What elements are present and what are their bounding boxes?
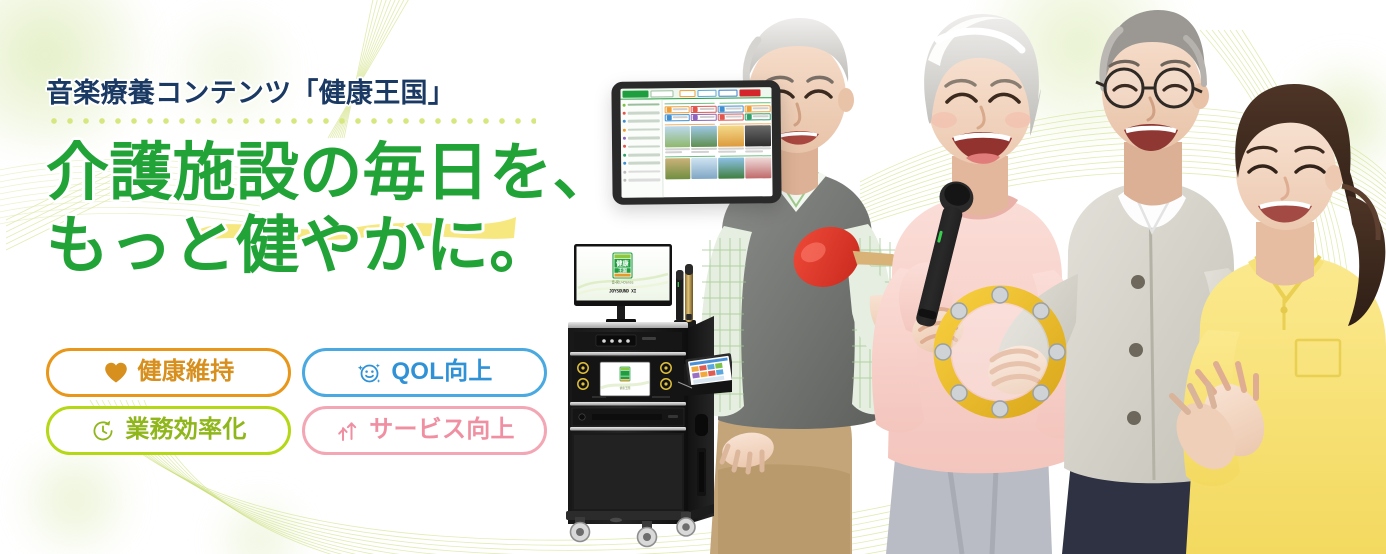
- tablet-chip[interactable]: [691, 114, 717, 121]
- tablet-content-card[interactable]: [718, 158, 744, 179]
- headline-line-2: もっと健やかに。: [46, 210, 606, 283]
- pill-health-label: 健康維持: [138, 360, 235, 386]
- tablet-menu-button[interactable]: [622, 90, 648, 97]
- tablet-screen: [620, 87, 772, 198]
- feature-pill-group: 健康維持 QOL向上: [46, 348, 546, 455]
- green-blob: [10, 440, 140, 554]
- tablet-chip[interactable]: [664, 114, 690, 121]
- tablet-content-card[interactable]: [664, 126, 690, 153]
- cart-amp-panel: 健康王国: [572, 357, 684, 401]
- tablet-main-content: [663, 98, 773, 197]
- dotted-divider: [46, 118, 536, 124]
- tablet-chip[interactable]: [745, 113, 771, 120]
- cart-top-trim: [568, 322, 688, 329]
- tablet-content-card[interactable]: [692, 158, 718, 179]
- green-blob: [205, 495, 315, 554]
- tablet-content-grid: [664, 126, 770, 154]
- svg-text:JOYSOUND XI: JOYSOUND XI: [609, 289, 637, 295]
- clock-rotate-icon: [90, 418, 116, 444]
- tablet-content-grid: [665, 158, 771, 180]
- sidebar-item[interactable]: [623, 168, 660, 175]
- people-photo-group: [700, 0, 1386, 554]
- tablet-tab-2[interactable]: [718, 89, 737, 96]
- tablet-content-card[interactable]: [745, 126, 771, 153]
- tablet-content-card[interactable]: [745, 158, 771, 179]
- tablet-chip[interactable]: [691, 105, 717, 112]
- tablet-chip[interactable]: [718, 113, 744, 120]
- sidebar-item[interactable]: [623, 134, 660, 141]
- heart-icon: [103, 360, 129, 386]
- cart-shelf-trim: [570, 352, 686, 356]
- pill-qol[interactable]: QOL向上: [302, 348, 547, 397]
- svg-text:音・笑い・Dance: 音・笑い・Dance: [612, 280, 634, 285]
- cart-caster: [610, 518, 622, 522]
- tablet-chip-row: [664, 105, 770, 121]
- tablet-chip[interactable]: [718, 105, 744, 112]
- eyebrow-text: 音楽療養コンテンツ「健康王国」: [46, 78, 606, 109]
- tablet-chip[interactable]: [745, 105, 771, 112]
- sidebar-item[interactable]: [623, 160, 660, 167]
- sidebar-item[interactable]: [623, 176, 660, 183]
- cart-side-handle[interactable]: [695, 414, 708, 436]
- smiley-sparkle-icon: [356, 360, 382, 386]
- hero-banner: 音楽療養コンテンツ「健康王国」 介護施設の毎日を、 もっと健やかに。 健康維持: [0, 0, 1386, 554]
- content-tablet[interactable]: [611, 80, 781, 205]
- tablet-content-card[interactable]: [691, 126, 717, 153]
- pill-qol-label: QOL向上: [391, 360, 492, 386]
- pill-service-label: サービス向上: [369, 418, 514, 444]
- sidebar-item[interactable]: [623, 143, 660, 150]
- pill-efficiency[interactable]: 業務効率化: [46, 406, 291, 455]
- sidebar-item[interactable]: [623, 126, 660, 133]
- tablet-tab-0[interactable]: [679, 90, 695, 97]
- pill-service[interactable]: サービス向上: [302, 406, 547, 455]
- cart-player-deck: [572, 408, 684, 426]
- pill-efficiency-label: 業務効率化: [125, 418, 246, 444]
- tablet-chip[interactable]: [664, 106, 690, 113]
- arrow-up-growth-icon: [334, 418, 360, 444]
- pill-health[interactable]: 健康維持: [46, 348, 291, 397]
- tablet-tab-3[interactable]: [739, 89, 760, 96]
- copy-block: 音楽療養コンテンツ「健康王国」 介護施設の毎日を、 もっと健やかに。: [46, 78, 606, 283]
- svg-text:王国: 王国: [618, 267, 627, 274]
- sidebar-item[interactable]: [623, 101, 660, 108]
- tablet-body: [621, 98, 773, 198]
- tablet-back-button[interactable]: [650, 90, 673, 97]
- sidebar-item[interactable]: [623, 151, 660, 158]
- headline: 介護施設の毎日を、 もっと健やかに。: [46, 137, 606, 283]
- cart-receiver-shelf: [574, 332, 682, 350]
- headline-line-1: 介護施設の毎日を、: [46, 137, 606, 210]
- cart-shelf-trim: [570, 427, 686, 431]
- cart-caster: [638, 521, 657, 547]
- cart-cabinet-door: [574, 435, 682, 509]
- tablet-content-card[interactable]: [718, 126, 744, 153]
- svg-text:健康: 健康: [615, 259, 629, 268]
- svg-text:健康王国: 健康王国: [620, 386, 631, 390]
- cart-vent: [697, 448, 706, 496]
- sidebar-item[interactable]: [623, 118, 660, 125]
- tambourine-instrument: [935, 287, 1065, 417]
- person-woman-microphone: [872, 14, 1087, 554]
- tablet-content-card[interactable]: [665, 158, 691, 179]
- sidebar-item[interactable]: [623, 109, 660, 116]
- cart-shelf-trim: [570, 402, 686, 406]
- tablet-tab-1[interactable]: [697, 89, 716, 96]
- tablet-sidebar[interactable]: [621, 99, 664, 197]
